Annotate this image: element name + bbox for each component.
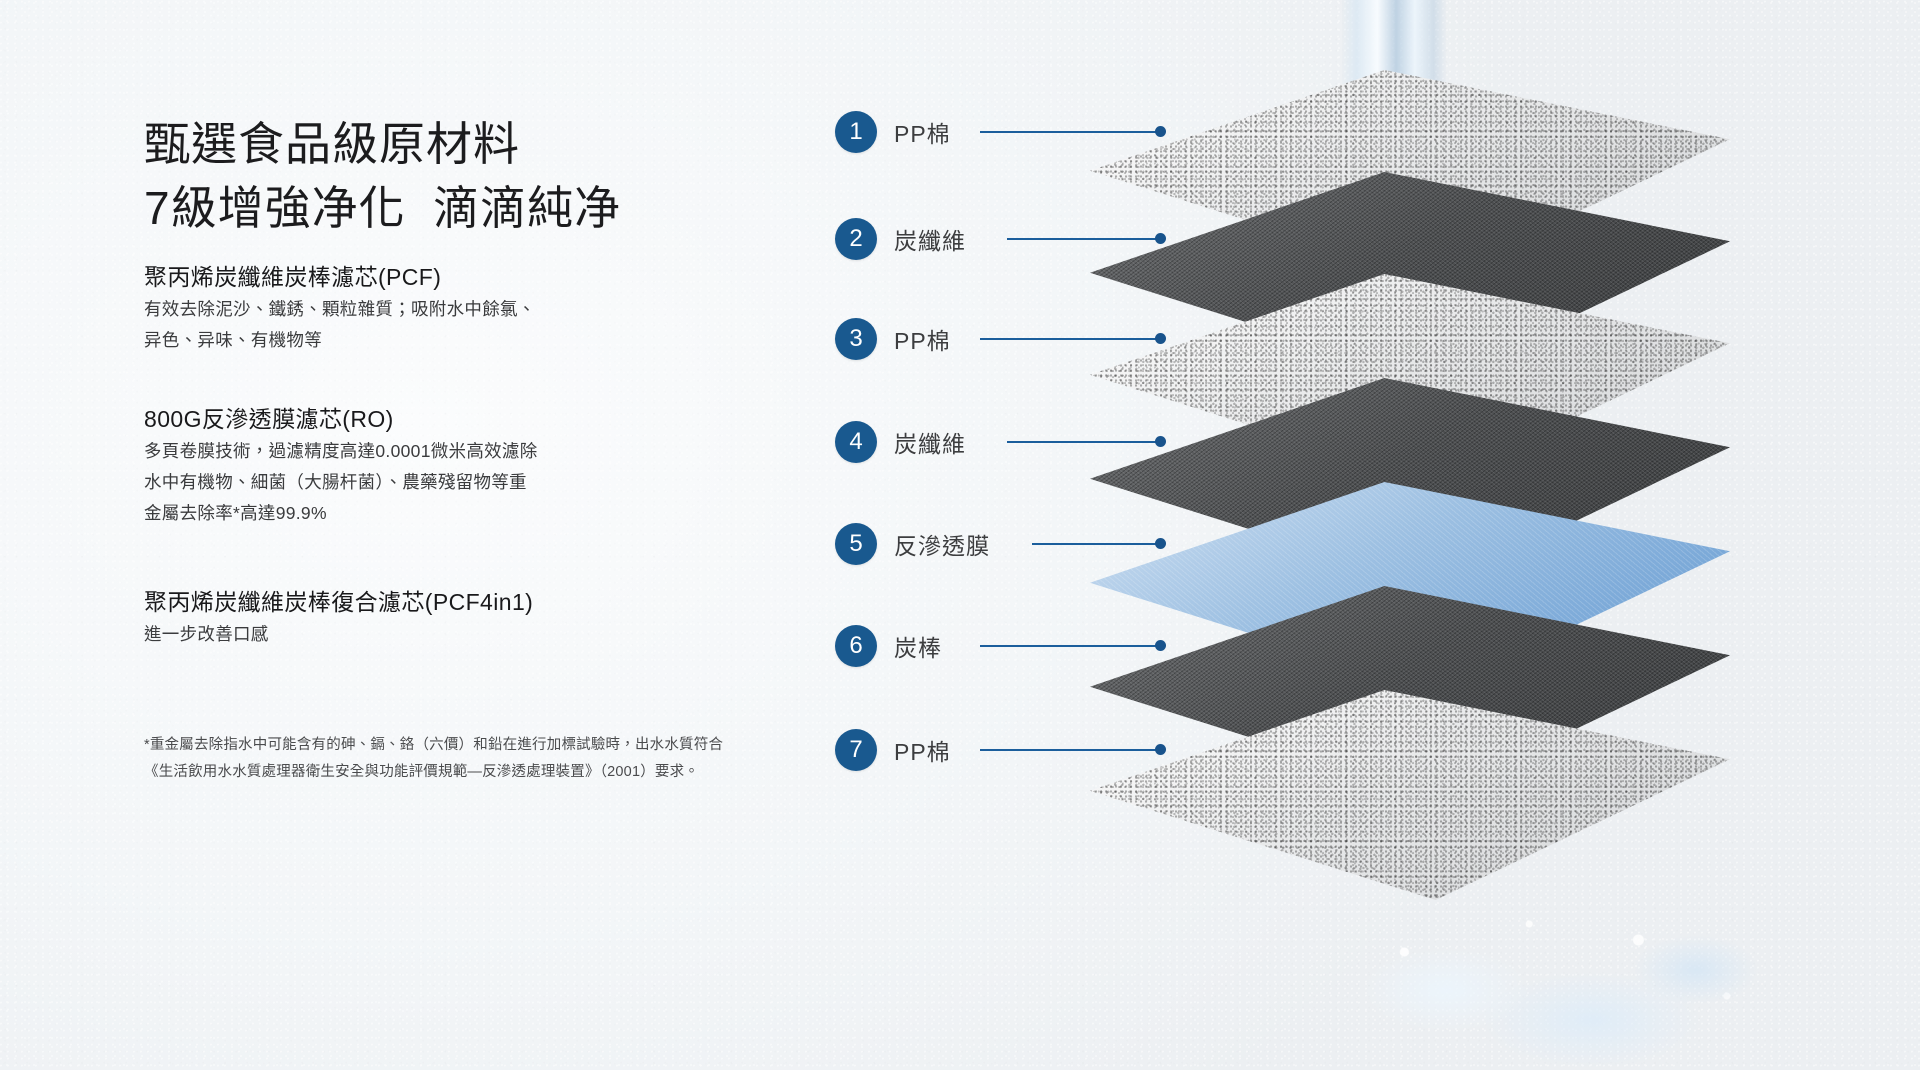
- leader-dot-1: [1155, 126, 1166, 137]
- legend-item-2[interactable]: 2 炭纖維: [835, 217, 966, 261]
- slab-face: [1090, 690, 1730, 900]
- filter-section-ro: 800G反滲透膜濾芯(RO) 多頁卷膜技術，過濾精度高達0.0001微米高效濾除…: [144, 402, 538, 529]
- layer-label: PP棉: [894, 322, 951, 356]
- leader-line-6: [980, 645, 1160, 647]
- layer-number-badge: 2: [835, 218, 877, 260]
- section-title: 800G反滲透膜濾芯(RO): [144, 402, 538, 436]
- section-body-line: 水中有機物、細菌（大腸杆菌）、農藥殘留物等重: [144, 467, 538, 498]
- leader-dot-6: [1155, 640, 1166, 651]
- product-infographic: 甄選食品級原材料 7級增強净化 滴滴純净 聚丙烯炭纖維炭棒濾芯(PCF) 有效去…: [0, 0, 1920, 1070]
- section-body: 進一步改善口感: [144, 619, 533, 650]
- layer-number-badge: 4: [835, 421, 877, 463]
- layer-number-badge: 7: [835, 729, 877, 771]
- section-title: 聚丙烯炭纖維炭棒濾芯(PCF): [144, 260, 536, 294]
- leader-dot-2: [1155, 233, 1166, 244]
- leader-line-4: [1007, 441, 1160, 443]
- leader-line-1: [980, 131, 1160, 133]
- legend-item-3[interactable]: 3 PP棉: [835, 317, 951, 361]
- filter-stack-diagram: 1 PP棉 2 炭纖維 3 PP棉 4 炭纖維 5 反滲透膜 6: [990, 0, 1920, 1070]
- leader-line-3: [980, 338, 1160, 340]
- section-body-line: 多頁卷膜技術，過濾精度高達0.0001微米高效濾除: [144, 436, 538, 467]
- water-splash: [1290, 880, 1810, 1070]
- leader-dot-3: [1155, 333, 1166, 344]
- leader-dot-5: [1155, 538, 1166, 549]
- legend-item-6[interactable]: 6 炭棒: [835, 624, 942, 668]
- section-title: 聚丙烯炭纖維炭棒復合濾芯(PCF4in1): [144, 585, 533, 619]
- footnote-line: *重金屬去除指水中可能含有的砷、鎘、鉻（六價）和鉛在進行加標試驗時，出水水質符合: [144, 732, 723, 759]
- layer-number-badge: 5: [835, 523, 877, 565]
- footnote-disclaimer: *重金屬去除指水中可能含有的砷、鎘、鉻（六價）和鉛在進行加標試驗時，出水水質符合…: [144, 732, 723, 786]
- layer-label: 反滲透膜: [894, 527, 990, 561]
- filter-layer-slab-7: [1090, 690, 1730, 900]
- leader-line-7: [980, 749, 1160, 751]
- layer-label: PP棉: [894, 733, 951, 767]
- legend-item-4[interactable]: 4 炭纖維: [835, 420, 966, 464]
- section-body-line: 有效去除泥沙、鐵銹、顆粒雜質；吸附水中餘氯、: [144, 294, 536, 325]
- leader-dot-7: [1155, 744, 1166, 755]
- layer-label: PP棉: [894, 115, 951, 149]
- leader-line-5: [1032, 543, 1160, 545]
- legend-item-1[interactable]: 1 PP棉: [835, 110, 951, 154]
- filter-section-pcf: 聚丙烯炭纖維炭棒濾芯(PCF) 有效去除泥沙、鐵銹、顆粒雜質；吸附水中餘氯、 异…: [144, 260, 536, 356]
- layer-number-badge: 6: [835, 625, 877, 667]
- filter-section-pcf4in1: 聚丙烯炭纖維炭棒復合濾芯(PCF4in1) 進一步改善口感: [144, 585, 533, 650]
- layer-number-badge: 3: [835, 318, 877, 360]
- filter-layer-stack: [990, 0, 1920, 1070]
- legend-item-7[interactable]: 7 PP棉: [835, 728, 951, 772]
- layer-label: 炭棒: [894, 629, 942, 663]
- section-body: 多頁卷膜技術，過濾精度高達0.0001微米高效濾除 水中有機物、細菌（大腸杆菌）…: [144, 436, 538, 529]
- leader-dot-4: [1155, 436, 1166, 447]
- section-body-line: 進一步改善口感: [144, 619, 533, 650]
- section-body-line: 异色、异味、有機物等: [144, 325, 536, 356]
- footnote-line: 《生活飲用水水質處理器衛生安全與功能評價規範—反滲透處理裝置》（2001）要求。: [144, 759, 723, 786]
- section-body: 有效去除泥沙、鐵銹、顆粒雜質；吸附水中餘氯、 异色、异味、有機物等: [144, 294, 536, 356]
- layer-label: 炭纖維: [894, 222, 966, 256]
- layer-number-badge: 1: [835, 111, 877, 153]
- legend-item-5[interactable]: 5 反滲透膜: [835, 522, 990, 566]
- layer-label: 炭纖維: [894, 425, 966, 459]
- section-body-line: 金屬去除率*高達99.9%: [144, 498, 538, 529]
- leader-line-2: [1007, 238, 1160, 240]
